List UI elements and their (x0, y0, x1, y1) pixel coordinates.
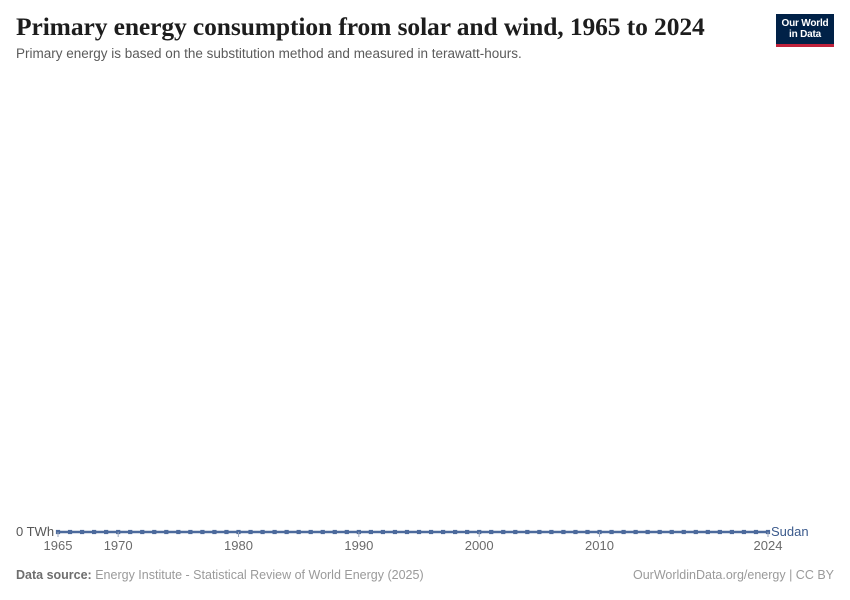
data-point[interactable] (441, 530, 445, 534)
data-point[interactable] (694, 530, 698, 534)
chart-plot-area[interactable]: 0 TWh Sudan 1965197019801990200020102024 (0, 80, 850, 558)
data-point[interactable] (297, 530, 301, 534)
chart-subtitle: Primary energy is based on the substitut… (16, 45, 834, 63)
data-point[interactable] (68, 530, 72, 534)
data-point[interactable] (525, 530, 529, 534)
data-point[interactable] (405, 530, 409, 534)
data-point[interactable] (453, 530, 457, 534)
data-point[interactable] (537, 530, 541, 534)
data-point[interactable] (200, 530, 204, 534)
data-point[interactable] (164, 530, 168, 534)
owid-logo[interactable]: Our World in Data (776, 14, 834, 47)
data-point[interactable] (128, 530, 132, 534)
data-source: Data source: Energy Institute - Statisti… (16, 568, 424, 582)
data-point[interactable] (730, 530, 734, 534)
x-tick-label-1970: 1970 (104, 538, 133, 553)
data-point[interactable] (621, 530, 625, 534)
data-point[interactable] (742, 530, 746, 534)
data-point[interactable] (513, 530, 517, 534)
data-point[interactable] (92, 530, 96, 534)
data-point[interactable] (489, 530, 493, 534)
data-point[interactable] (634, 530, 638, 534)
data-point[interactable] (104, 530, 108, 534)
owid-logo-text: Our World in Data (776, 14, 834, 44)
data-point[interactable] (188, 530, 192, 534)
data-point[interactable] (176, 530, 180, 534)
x-tick-label-2024: 2024 (754, 538, 783, 553)
data-point[interactable] (609, 530, 613, 534)
data-point[interactable] (248, 530, 252, 534)
data-point[interactable] (706, 530, 710, 534)
data-point[interactable] (381, 530, 385, 534)
owid-logo-line-2: in Data (778, 29, 832, 40)
y-axis-label: 0 TWh (16, 524, 54, 539)
x-tick-label-1990: 1990 (344, 538, 373, 553)
data-point[interactable] (333, 530, 337, 534)
data-point[interactable] (417, 530, 421, 534)
data-point[interactable] (273, 530, 277, 534)
data-source-text: Energy Institute - Statistical Review of… (95, 568, 423, 582)
data-point[interactable] (321, 530, 325, 534)
data-point[interactable] (140, 530, 144, 534)
data-point[interactable] (501, 530, 505, 534)
data-point[interactable] (585, 530, 589, 534)
data-point[interactable] (212, 530, 216, 534)
x-tick-label-1980: 1980 (224, 538, 253, 553)
data-point[interactable] (549, 530, 553, 534)
x-tick-label-2000: 2000 (465, 538, 494, 553)
data-point[interactable] (369, 530, 373, 534)
data-point[interactable] (393, 530, 397, 534)
data-point[interactable] (309, 530, 313, 534)
data-point[interactable] (80, 530, 84, 534)
data-point[interactable] (465, 530, 469, 534)
data-point[interactable] (345, 530, 349, 534)
data-point[interactable] (670, 530, 674, 534)
data-point[interactable] (152, 530, 156, 534)
x-tick-label-1965: 1965 (44, 538, 73, 553)
line-chart-svg (0, 80, 850, 558)
data-point[interactable] (260, 530, 264, 534)
data-point[interactable] (285, 530, 289, 534)
data-point[interactable] (561, 530, 565, 534)
series-end-label[interactable]: Sudan (771, 524, 809, 539)
data-point[interactable] (224, 530, 228, 534)
data-source-label: Data source: (16, 568, 92, 582)
data-point[interactable] (682, 530, 686, 534)
chart-header: Primary energy consumption from solar an… (16, 12, 834, 63)
data-point[interactable] (718, 530, 722, 534)
data-point[interactable] (646, 530, 650, 534)
footer-attribution[interactable]: OurWorldinData.org/energy | CC BY (633, 568, 834, 582)
x-tick-label-2010: 2010 (585, 538, 614, 553)
data-point[interactable] (573, 530, 577, 534)
data-point[interactable] (658, 530, 662, 534)
owid-logo-line-1: Our World (778, 18, 832, 29)
data-point[interactable] (754, 530, 758, 534)
page-title: Primary energy consumption from solar an… (16, 12, 834, 42)
data-point[interactable] (429, 530, 433, 534)
chart-footer: Data source: Energy Institute - Statisti… (16, 568, 834, 588)
